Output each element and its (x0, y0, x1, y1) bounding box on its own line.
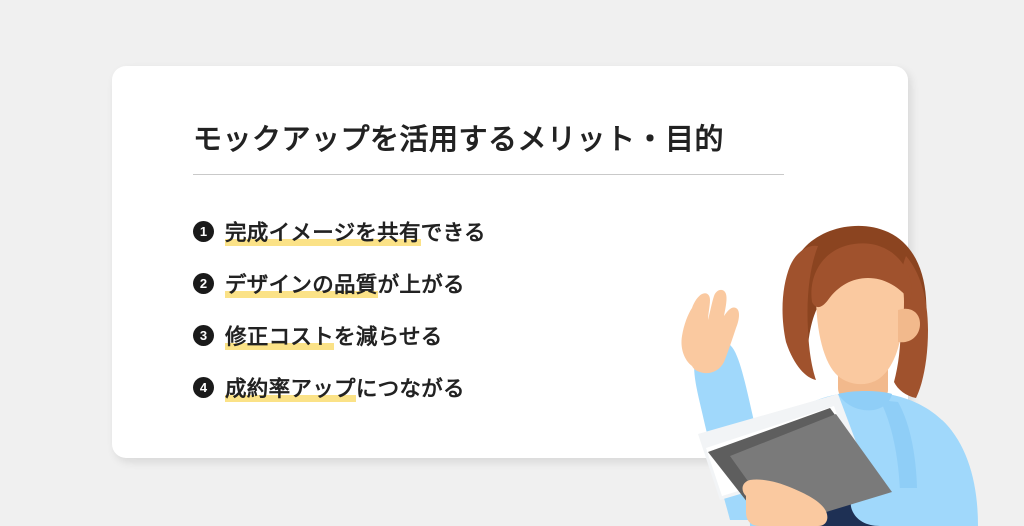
title-divider (193, 174, 784, 175)
trailing-phrase: できる (421, 221, 486, 245)
highlighted-phrase: デザインの品質 (225, 273, 378, 298)
benefits-card: モックアップを活用するメリット・目的 1 完成イメージを共有できる 2 デザイン… (112, 66, 908, 458)
highlighted-phrase: 完成イメージを共有 (225, 221, 421, 246)
list-marker-3: 3 (193, 325, 214, 346)
screenshot-stage: モックアップを活用するメリット・目的 1 完成イメージを共有できる 2 デザイン… (0, 0, 1024, 526)
list-marker-1: 1 (193, 221, 214, 242)
trailing-phrase: が上がる (378, 273, 465, 297)
list-item-text: デザインの品質が上がる (225, 268, 465, 299)
list-item: 4 成約率アップにつながる (193, 361, 713, 413)
skirt (764, 498, 932, 526)
list-marker-4: 4 (193, 377, 214, 398)
page-title: モックアップを活用するメリット・目的 (193, 116, 724, 158)
holding-hand (743, 479, 828, 526)
list-marker-2: 2 (193, 273, 214, 294)
list-item: 1 完成イメージを共有できる (193, 205, 713, 257)
highlighted-phrase: 修正コスト (225, 325, 334, 350)
trailing-phrase: を減らせる (334, 325, 443, 349)
list-item-text: 修正コストを減らせる (225, 320, 443, 351)
benefits-list: 1 完成イメージを共有できる 2 デザインの品質が上がる 3 修正コストを減らせ… (193, 205, 713, 413)
trailing-phrase: につながる (356, 377, 465, 401)
list-item-text: 完成イメージを共有できる (225, 216, 486, 247)
list-item: 2 デザインの品質が上がる (193, 257, 713, 309)
list-item-text: 成約率アップにつながる (225, 372, 465, 403)
list-item: 3 修正コストを減らせる (193, 309, 713, 361)
highlighted-phrase: 成約率アップ (225, 377, 356, 402)
